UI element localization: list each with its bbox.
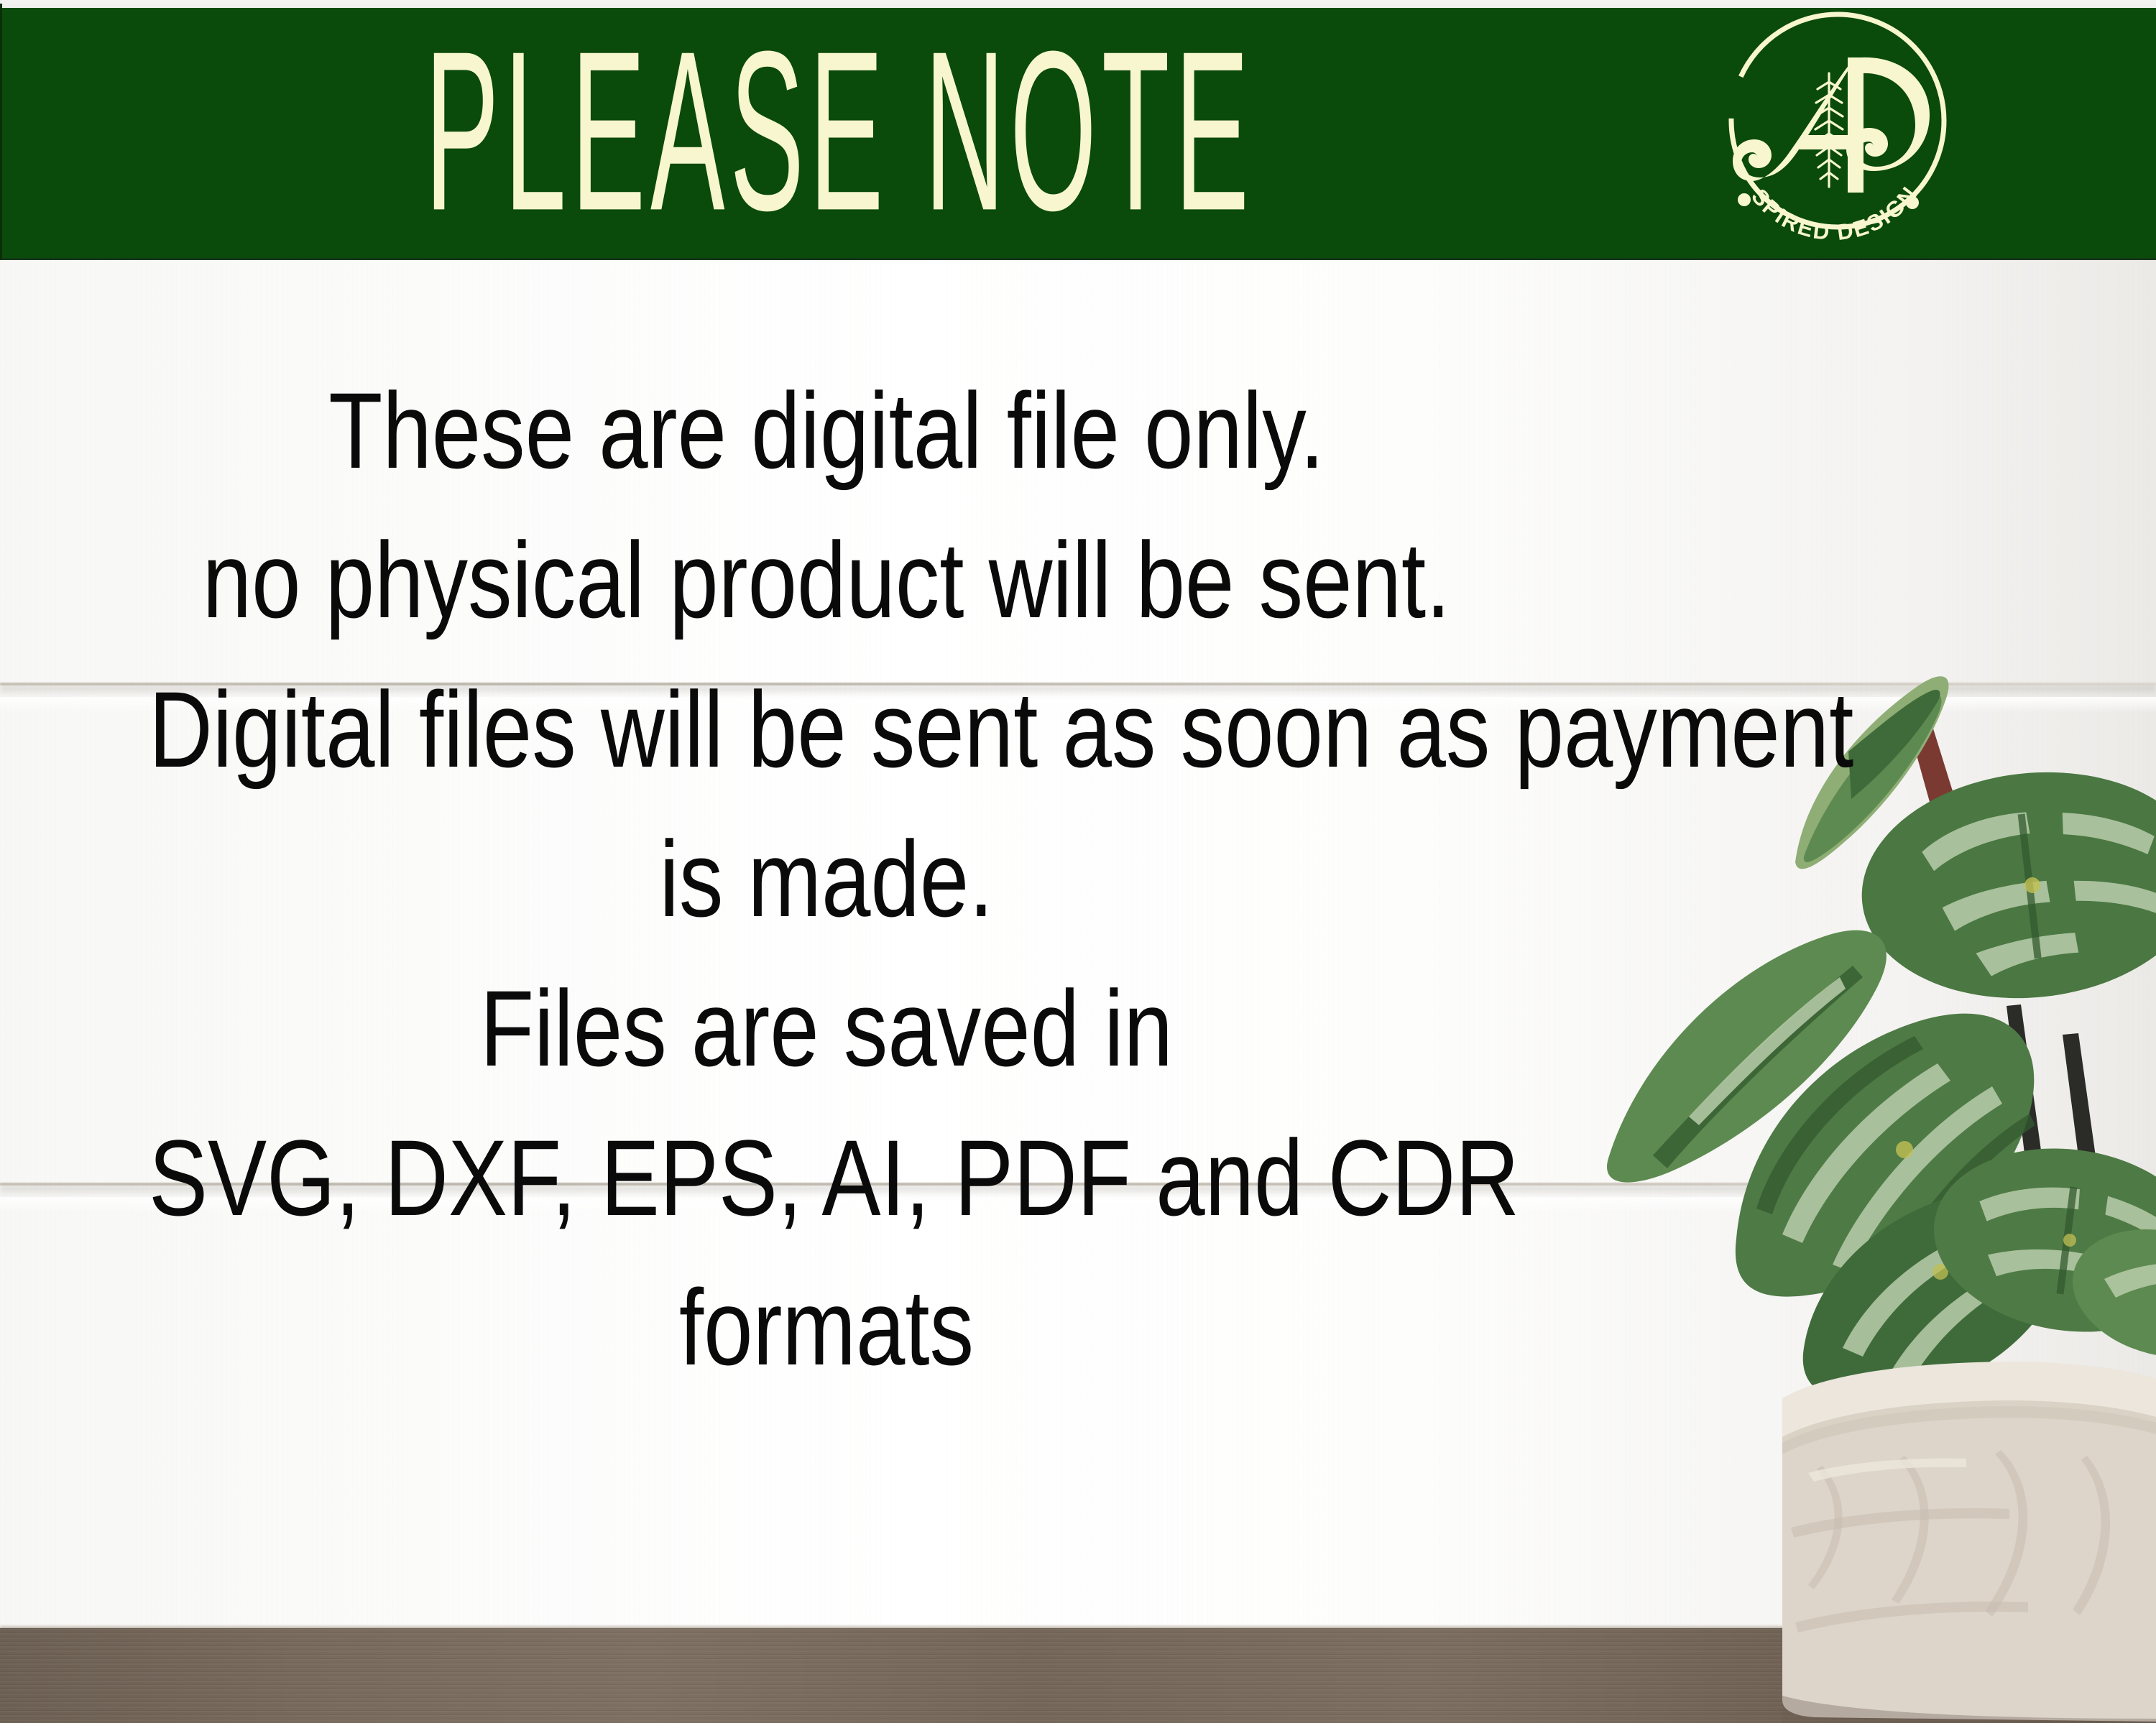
poster-canvas: PLEASE NOTE [0,0,2156,1723]
note-line: formats [149,1252,1504,1402]
page-title: PLEASE NOTE [421,14,1258,248]
note-line: SVG, DXF, EPS, AI, PDF and CDR [149,1103,1504,1252]
wheat-motif [1815,73,1843,187]
note-line: These are digital file only. [149,356,1504,505]
brand-logo: INSPIRED DESIGNS [1721,7,1955,255]
note-line: no physical product will be sent. [149,505,1504,655]
logo-svg: INSPIRED DESIGNS [1721,7,1955,255]
note-line: Files are saved in [149,953,1504,1103]
paper-bag-planter [1782,1362,2156,1723]
leaf-right-large [1851,756,2156,1015]
note-line: Digital files will be sent as soon as pa… [149,655,1504,804]
note-line: is made. [149,804,1504,953]
note-text-block: These are digital file only. no physical… [0,356,1653,1402]
logo-monogram [1733,57,1930,193]
